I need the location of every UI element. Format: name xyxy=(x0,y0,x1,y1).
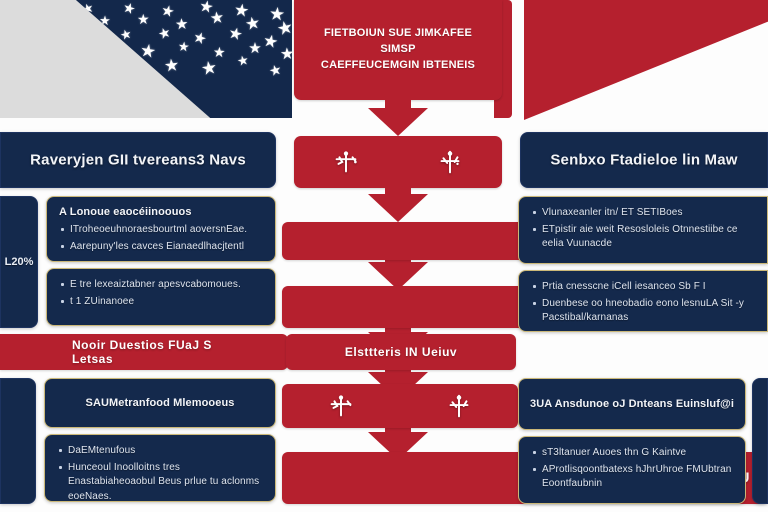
right-card-b-bullets: Prtia cnesscne iCell iesanceo Sb F I Due… xyxy=(531,280,755,326)
list-item: Vlunaxeanler itn/ ET SETIBoes xyxy=(531,206,755,221)
list-item: Hunceoul Inoolloitns tres Enastabiaheoao… xyxy=(57,461,263,503)
list-item: E tre lexeaiztabner apesvcabomoues. xyxy=(59,278,263,293)
left-mid-bar-label: Nooir Duestios FUaJ S Letsas xyxy=(72,338,216,366)
star-icon: ★ xyxy=(244,14,262,33)
left-card-d-bullets: DaEMtenufous Hunceoul Inoolloitns tres E… xyxy=(57,444,263,502)
center-top-line1: FIETBOIUN SUE JIMKAFEE SIMSP xyxy=(324,27,472,55)
emblem-row xyxy=(294,136,502,188)
right-card-a: Vlunaxeanler itn/ ET SETIBoes ETpistir a… xyxy=(518,196,768,264)
star-icon: ★ xyxy=(200,58,219,78)
right-card-d: sT3ltanuer Auoes thn G Kaintve AProtlisq… xyxy=(518,436,746,504)
left-card-c-title: SAUMetranfood Mlemooeus xyxy=(86,397,235,409)
star-icon: ★ xyxy=(261,32,279,52)
left-lower-edge-card xyxy=(0,378,36,504)
center-top-line2: CAEFFEUCEMGIN IBTENEIS xyxy=(321,59,475,71)
center-lower-emblem-bar xyxy=(282,384,518,428)
right-card-c-title: 3UA Ansdunoe oJ Dnteans Euinsluf@i xyxy=(530,398,734,410)
right-header-title: Senbxo Ftadieloe lin Maw xyxy=(550,152,737,169)
star-icon: ★ xyxy=(175,16,189,32)
anchor-star-emblem-icon xyxy=(444,391,474,421)
center-mid-label: Elsttteris IN Ueiuv xyxy=(345,345,457,359)
anchor-star-emblem-icon xyxy=(331,147,361,177)
arrow-down-2 xyxy=(368,194,428,222)
emblem-row-lower xyxy=(282,384,518,428)
center-mid-label-bar: Elsttteris IN Ueiuv xyxy=(286,334,516,370)
star-icon: ★ xyxy=(137,12,150,26)
left-card-a-bullets: ITroheoeuhnoraesbourtml aoversnEae. Aare… xyxy=(59,223,263,254)
star-icon: ★ xyxy=(163,56,180,75)
anchor-star-emblem-icon xyxy=(326,391,356,421)
arrow-down-1 xyxy=(368,108,428,136)
left-edge-tag-label: L20% xyxy=(5,256,34,268)
right-card-d-bullets: sT3ltanuer Auoes thn G Kaintve AProtlisq… xyxy=(531,446,733,492)
center-top-box: FIETBOIUN SUE JIMKAFEE SIMSP CAEFFEUCEMG… xyxy=(294,0,502,100)
left-card-b: E tre lexeaiztabner apesvcabomoues. t 1 … xyxy=(46,268,276,326)
star-icon: ★ xyxy=(159,2,176,20)
list-item: Prtia cnesscne iCell iesanceo Sb F I xyxy=(531,280,755,295)
center-emblem-box xyxy=(294,136,502,188)
red-diagonal-stripe xyxy=(524,0,768,120)
star-icon: ★ xyxy=(121,0,137,17)
list-item: t 1 ZUinanoee xyxy=(59,295,263,310)
list-item: DaEMtenufous xyxy=(57,444,263,459)
list-item: sT3ltanuer Auoes thn G Kaintve xyxy=(531,446,733,461)
right-card-a-bullets: Vlunaxeanler itn/ ET SETIBoes ETpistir a… xyxy=(531,206,755,252)
list-item-cont: Aarepuny'les cavces Eianaedlhacjtentl xyxy=(59,240,263,255)
star-icon: ★ xyxy=(177,40,190,54)
star-icon: ★ xyxy=(267,61,283,78)
right-card-b: Prtia cnesscne iCell iesanceo Sb F I Due… xyxy=(518,270,768,332)
left-mid-red-bar: Nooir Duestios FUaJ S Letsas xyxy=(0,334,288,370)
right-header-card: Senbxo Ftadieloe lin Maw xyxy=(520,132,768,188)
right-card-c: 3UA Ansdunoe oJ Dnteans Euinsluf@i xyxy=(518,378,746,430)
right-edge-strip xyxy=(752,378,768,504)
left-edge-tag-card: L20% xyxy=(0,196,38,328)
list-item: ETpistir aie weit Resosloleis Otnnestiib… xyxy=(531,223,755,252)
list-item: AProtlisqoontbatexs hJhrUhroe FMUbtran E… xyxy=(531,463,733,492)
star-icon: ★ xyxy=(191,29,208,47)
list-item: Duenbese oo hneobadio eono lesnuLA Sit -… xyxy=(531,297,755,326)
left-card-c: SAUMetranfood Mlemooeus xyxy=(44,378,276,428)
star-icon: ★ xyxy=(248,41,261,56)
star-icon: ★ xyxy=(235,53,249,68)
left-card-d: DaEMtenufous Hunceoul Inoolloitns tres E… xyxy=(44,434,276,502)
star-icon: ★ xyxy=(226,26,244,45)
list-item: ITroheoeuhnoraesbourtml aoversnEae. xyxy=(59,223,263,238)
left-header-title: Raveryjen GII tvereans3 Navs xyxy=(30,152,246,169)
left-card-a: A Lonoue eaocéiinoouos ITroheoeuhnoraesb… xyxy=(46,196,276,262)
star-icon: ★ xyxy=(209,10,225,28)
anchor-star-emblem-icon xyxy=(435,147,465,177)
infographic-canvas: ★★★★★★★★★★★★★★★★★★★★★★★★★★ Raveryjen GII… xyxy=(0,0,768,512)
star-icon: ★ xyxy=(156,24,172,41)
left-header-card: Raveryjen GII tvereans3 Navs xyxy=(0,132,276,188)
center-top-box-text: FIETBOIUN SUE JIMKAFEE SIMSP CAEFFEUCEMG… xyxy=(294,26,502,74)
left-card-a-subtitle: A Lonoue eaocéiinoouos xyxy=(59,206,263,218)
left-card-b-bullets: E tre lexeaiztabner apesvcabomoues. t 1 … xyxy=(59,278,263,309)
